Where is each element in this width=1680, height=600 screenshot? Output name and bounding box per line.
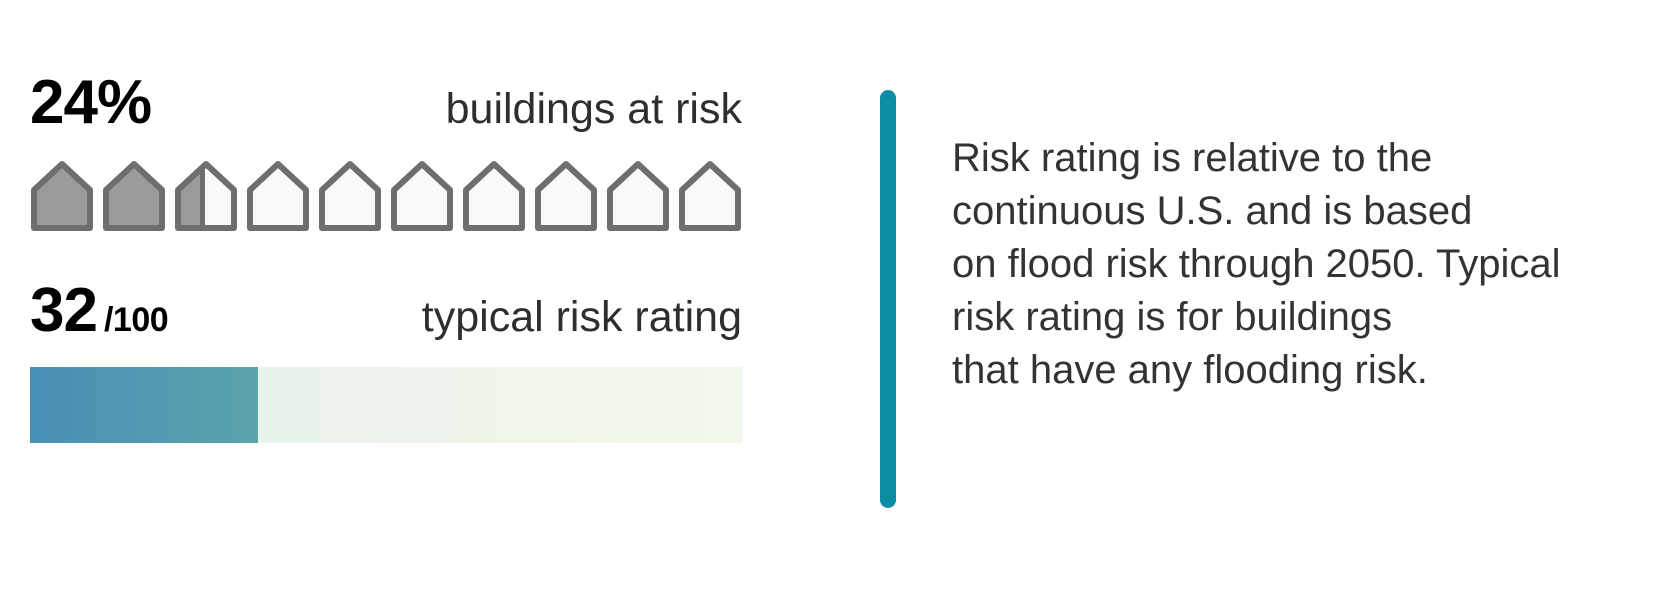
buildings-at-risk-value-wrap: 24% xyxy=(30,72,151,134)
risk-bar-fill xyxy=(30,367,258,443)
house-icon xyxy=(534,160,598,232)
typical-risk-rating-denominator: /100 xyxy=(104,303,168,337)
house-icon xyxy=(318,160,382,232)
typical-risk-rating-label: typical risk rating xyxy=(422,296,742,339)
note-line: Risk rating is relative to the xyxy=(952,132,1642,185)
house-icon xyxy=(390,160,454,232)
typical-risk-rating-metric-row: 32 /100 typical risk rating xyxy=(30,280,742,342)
risk-rating-note: Risk rating is relative to the continuou… xyxy=(952,132,1642,397)
house-icon xyxy=(174,160,238,232)
flood-risk-summary-panel: 24% buildings at risk xyxy=(0,0,1680,600)
buildings-at-risk-label: buildings at risk xyxy=(446,88,742,131)
buildings-at-risk-pictogram xyxy=(30,156,742,232)
stats-panel: 24% buildings at risk xyxy=(30,0,742,600)
note-line: risk rating is for buildings xyxy=(952,291,1642,344)
house-icon xyxy=(606,160,670,232)
house-icon xyxy=(246,160,310,232)
typical-risk-rating-value-wrap: 32 /100 xyxy=(30,280,168,342)
house-icon xyxy=(678,160,742,232)
house-icon xyxy=(30,160,94,232)
note-line: continuous U.S. and is based xyxy=(952,185,1642,238)
typical-risk-rating-bar xyxy=(30,367,742,443)
note-line: that have any flooding risk. xyxy=(952,344,1642,397)
buildings-at-risk-value: 24% xyxy=(30,72,151,134)
typical-risk-rating-value: 32 xyxy=(30,280,97,342)
buildings-at-risk-metric-row: 24% buildings at risk xyxy=(30,72,742,134)
house-icon xyxy=(462,160,526,232)
vertical-divider xyxy=(880,90,896,508)
note-line: on flood risk through 2050. Typical xyxy=(952,238,1642,291)
house-icon xyxy=(102,160,166,232)
